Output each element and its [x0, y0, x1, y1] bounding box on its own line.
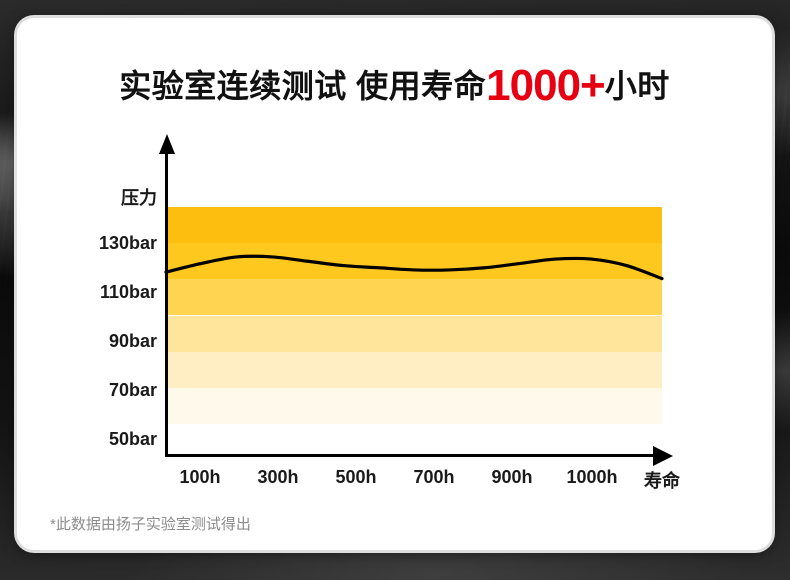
pressure-lifespan-chart: 压力 130bar 110bar 90bar 70bar 50bar 100h …	[17, 18, 772, 550]
pressure-curve-path	[166, 256, 662, 278]
screenshot-root: 实验室连续测试 使用寿命1000+小时 压力 130bar 110bar	[0, 0, 790, 580]
chart-footnote: *此数据由扬子实验室测试得出	[50, 513, 251, 534]
pressure-curve	[17, 18, 772, 550]
content-card: 实验室连续测试 使用寿命1000+小时 压力 130bar 110bar	[17, 18, 772, 550]
